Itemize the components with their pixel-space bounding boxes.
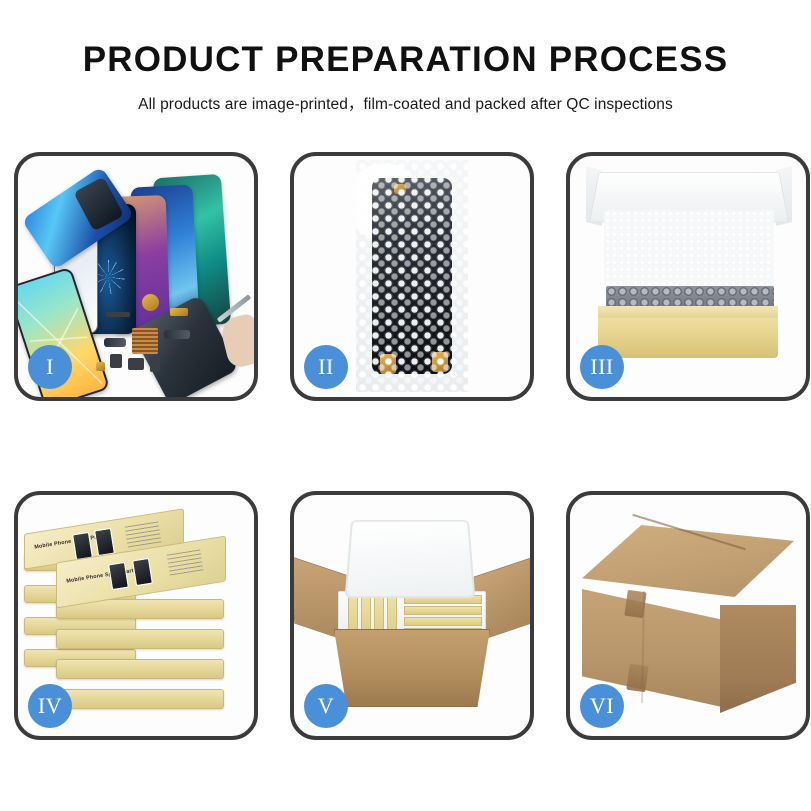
carton-tape-lower [626,664,648,692]
carton-side-face [720,605,796,713]
gold-box-front [598,318,778,358]
gold-box-in-carton-6 [404,606,482,615]
step-badge-5: V [304,684,348,728]
camera-module-part [110,354,122,368]
step-panel-5: V [290,491,534,740]
screw-part [96,362,105,371]
vibrator-part [128,358,144,370]
step-panel-6: VI [566,491,810,740]
gold-box-in-carton-7 [404,617,482,626]
process-steps-grid: I II III [14,152,798,752]
white-foam-sheet [604,210,774,294]
step-badge-4: IV [28,684,72,728]
step-badge-1: I [28,345,72,389]
step-badge-3: III [580,345,624,389]
step-panel-2: II [290,152,534,401]
page-header: PRODUCT PREPARATION PROCESS All products… [0,0,811,114]
bubble-texture-overlay-2 [356,160,468,392]
battery-connector-part [150,356,160,372]
step-panel-3: III [566,152,810,401]
carton-top-face [582,525,794,597]
step-badge-2: II [304,345,348,389]
gold-box-stack-right-4 [56,689,224,709]
earpiece-part [106,312,130,317]
carton-body [334,629,490,707]
step-panel-1: I [14,152,258,401]
bracket-part [170,308,188,316]
step-panel-4: Mobile Phone Spare Parts Mobile Phone Sp… [14,491,258,740]
logic-grid-part [132,328,158,354]
flex-cable-1 [104,338,126,347]
speaker-part [142,294,159,311]
gold-box-stack-right-2 [56,629,224,649]
foam-lid-open [345,520,476,598]
gold-box-stack-right-3 [56,659,224,679]
step-badge-6: VI [580,684,624,728]
flex-cable-2 [164,330,190,339]
page-title: PRODUCT PREPARATION PROCESS [0,42,811,79]
page-subtitle: All products are image-printed，film-coat… [0,92,811,114]
